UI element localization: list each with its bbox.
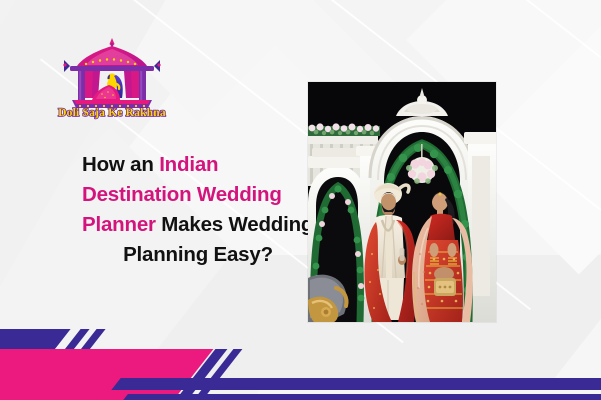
decor-purple-bar — [187, 349, 243, 400]
headline-part-highlight: Destination Wedding — [82, 183, 282, 206]
decor-purple-bar — [169, 349, 228, 400]
decor-purple-slab — [0, 329, 71, 351]
decor-footer-bar-secondary — [120, 394, 601, 400]
headline-part-plain: Makes Wedding — [156, 213, 313, 236]
brand-logo[interactable]: Doli Saja Ke Rakhna — [52, 36, 172, 120]
decor-purple-stripe — [63, 329, 89, 351]
banner-canvas: Doli Saja Ke Rakhna How an Indian Destin… — [0, 0, 601, 400]
headline-part-highlight: Planner — [82, 213, 156, 236]
wedding-couple-photo — [308, 82, 496, 322]
decor-magenta-block — [0, 349, 213, 400]
headline-part-plain: Planning Easy? — [82, 240, 314, 270]
decor-footer-bar — [111, 378, 601, 390]
page-title: How an Indian Destination Wedding Planne… — [82, 150, 314, 270]
logo-wordmark: Doli Saja Ke Rakhna — [58, 107, 166, 119]
background-hairline — [500, 0, 601, 300]
headline-part-highlight: Indian — [159, 153, 218, 176]
headline-part-plain: How an — [82, 153, 159, 176]
decor-purple-stripe — [79, 329, 105, 351]
